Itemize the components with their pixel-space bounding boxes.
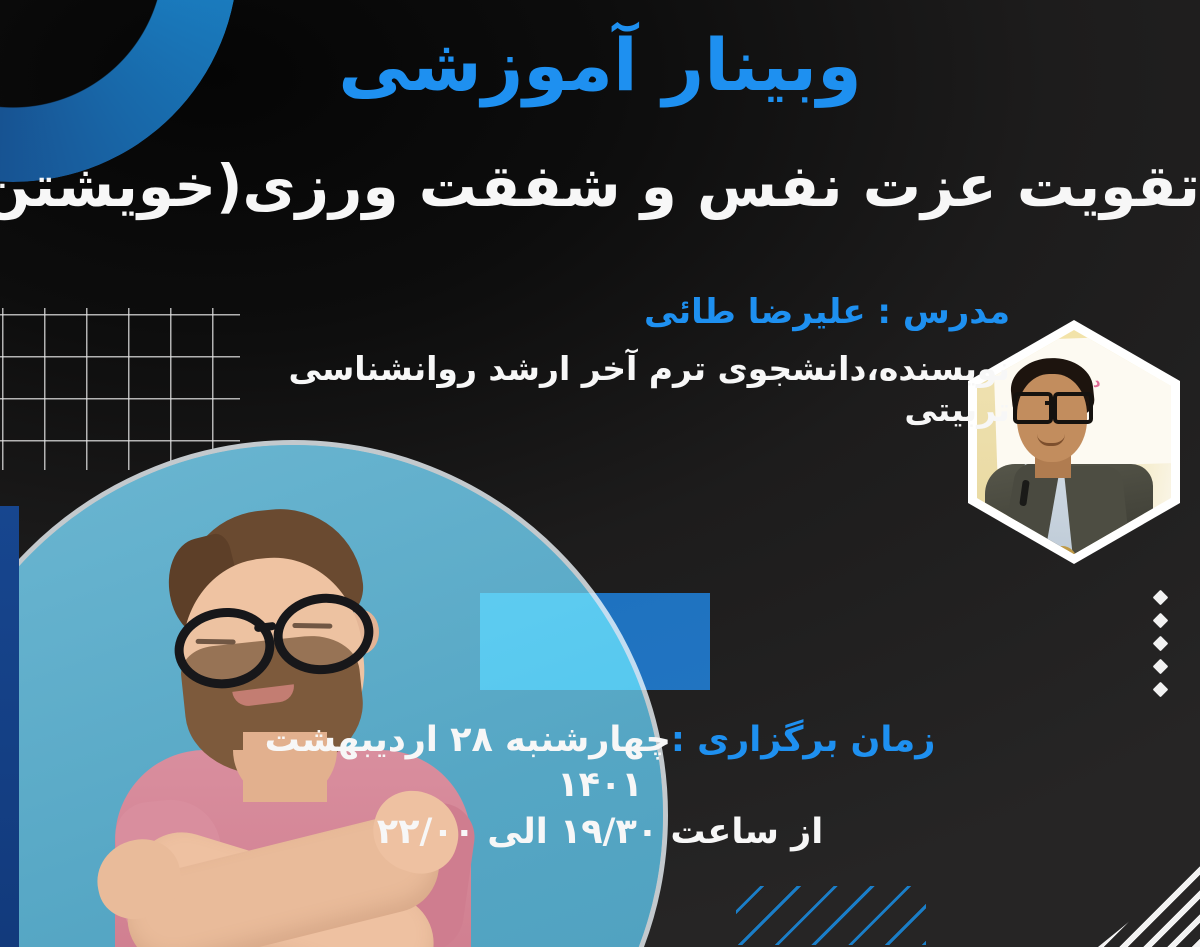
- blue-rectangle-decoration: [480, 593, 710, 690]
- schedule-date-line: زمان برگزاری :چهارشنبه ۲۸ اردیبهشت ۱۴۰۱: [230, 718, 970, 808]
- blue-diagonal-stripes-decoration: [736, 886, 926, 945]
- instructor-credential: نویسنده،دانشجوی ترم آخر ارشد روانشناسی ت…: [270, 348, 1010, 431]
- instructor-name: مدرس : علیرضا طائی: [280, 292, 1010, 332]
- diamond-icon: [1153, 682, 1169, 698]
- diamond-icon: [1153, 659, 1169, 675]
- diamond-icon: [1153, 636, 1169, 652]
- poster-subtitle: تقویت عزت نفس و شفقت ورزی(خویشتن دوستی): [4, 152, 1200, 222]
- white-diagonal-stripes-decoration: [1098, 864, 1200, 947]
- diamond-icon: [1153, 590, 1169, 606]
- self-hug-photo: [0, 440, 668, 947]
- schedule-block: زمان برگزاری :چهارشنبه ۲۸ اردیبهشت ۱۴۰۱ …: [230, 718, 970, 854]
- diamond-dots-decoration: [1155, 592, 1166, 695]
- left-accent-bar: [0, 506, 19, 947]
- portrait-eyeglasses-icon: [1013, 392, 1089, 418]
- schedule-label: زمان برگزاری :: [671, 720, 935, 760]
- schedule-date: چهارشنبه ۲۸ اردیبهشت ۱۴۰۱: [265, 720, 671, 805]
- webinar-poster: د احتمالی وبینار آموزشی: [0, 0, 1200, 947]
- poster-title: وبینار آموزشی: [0, 28, 1200, 104]
- schedule-hours: از ساعت ۱۹/۳۰ الی ۲۲/۰۰: [230, 810, 970, 855]
- diamond-icon: [1153, 613, 1169, 629]
